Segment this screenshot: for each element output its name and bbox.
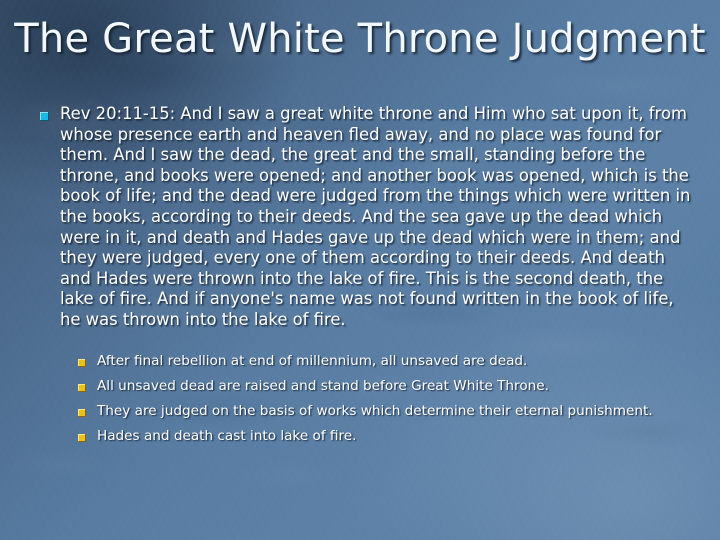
scripture-text: Rev 20:11-15: And I saw a great white th… (60, 104, 696, 331)
sub-bullet-square-icon (78, 384, 86, 392)
list-item: Hades and death cast into lake of fire. (78, 428, 696, 445)
list-item: They are judged on the basis of works wh… (78, 403, 696, 420)
slide-title: The Great White Throne Judgment (0, 14, 720, 64)
sub-bullet-text: After final rebellion at end of millenni… (97, 353, 696, 370)
list-item: All unsaved dead are raised and stand be… (78, 378, 696, 395)
sub-bullet-list: After final rebellion at end of millenni… (36, 353, 696, 445)
bullet-square-icon (40, 112, 49, 121)
sub-bullet-text: All unsaved dead are raised and stand be… (97, 378, 696, 395)
list-item: After final rebellion at end of millenni… (78, 353, 696, 370)
sub-bullet-text: Hades and death cast into lake of fire. (97, 428, 696, 445)
sub-bullet-square-icon (78, 409, 86, 417)
presentation-slide: The Great White Throne Judgment Rev 20:1… (0, 0, 720, 540)
sub-bullet-square-icon (78, 359, 86, 367)
bullet-item-scripture: Rev 20:11-15: And I saw a great white th… (36, 104, 696, 331)
sub-bullet-square-icon (78, 434, 86, 442)
slide-body: Rev 20:11-15: And I saw a great white th… (36, 104, 696, 453)
sub-bullet-text: They are judged on the basis of works wh… (97, 403, 696, 420)
